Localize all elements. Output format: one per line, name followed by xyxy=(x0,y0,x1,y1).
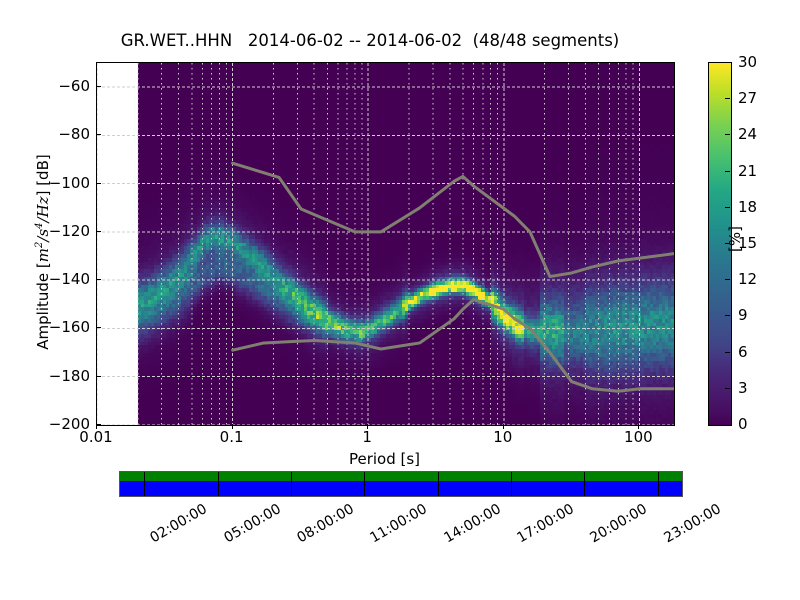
y-axis-label-prefix: Amplitude [ xyxy=(34,262,52,350)
time-tick-label: 20:00:00 xyxy=(588,501,650,546)
colorbar-tick-label: 0 xyxy=(731,415,748,433)
availability-tick xyxy=(364,472,365,496)
data-availability-bar xyxy=(119,471,683,497)
noise-model-curve-nlnm xyxy=(233,300,674,392)
availability-tick xyxy=(511,472,512,496)
x-tick-label: 0.01 xyxy=(79,428,112,446)
colorbar-tick-label: 12 xyxy=(731,270,757,288)
availability-tick xyxy=(438,472,439,496)
axes-inner xyxy=(97,63,674,425)
colorbar-tick-label: 18 xyxy=(731,198,757,216)
y-axis-label-suffix: ] [dB] xyxy=(34,154,52,196)
axes-overlay xyxy=(97,63,674,425)
y-tick-mark xyxy=(96,134,101,135)
x-tick-label: 1 xyxy=(362,428,372,446)
x-tick-label: 10 xyxy=(493,428,512,446)
colorbar-tick-mark xyxy=(725,207,730,208)
colorbar-tick-label: 24 xyxy=(731,125,757,143)
time-axis-ticks: 02:00:0005:00:0008:00:0011:00:0014:00:00… xyxy=(119,499,683,559)
availability-band-blue xyxy=(120,481,682,496)
colorbar-tick-label: 27 xyxy=(731,89,757,107)
x-tick-mark xyxy=(232,424,233,429)
colorbar-tick-label: 6 xyxy=(731,343,748,361)
colorbar-tick-mark xyxy=(725,134,730,135)
y-tick-mark xyxy=(96,183,101,184)
availability-tick xyxy=(291,472,292,496)
time-tick-label: 23:00:00 xyxy=(661,501,723,546)
x-tick-mark xyxy=(96,424,97,429)
availability-tick xyxy=(218,472,219,496)
noise-model-curve-nhnm xyxy=(233,163,674,276)
x-tick-label: 0.1 xyxy=(220,428,244,446)
availability-tick xyxy=(658,472,659,496)
x-tick-mark xyxy=(638,424,639,429)
x-axis-label: Period [s] xyxy=(96,450,673,468)
x-tick-mark xyxy=(367,424,368,429)
y-tick-mark xyxy=(96,279,101,280)
time-tick-label: 05:00:00 xyxy=(221,501,283,546)
time-tick-label: 02:00:00 xyxy=(148,501,210,546)
y-axis-label: Amplitude [m2/s4/Hz] [dB] xyxy=(34,72,52,432)
ppsd-axes xyxy=(96,62,675,426)
colorbar-label: [%] xyxy=(726,226,744,252)
colorbar-tick-label: 21 xyxy=(731,162,757,180)
availability-band-green xyxy=(120,472,682,481)
colorbar-tick-mark xyxy=(725,171,730,172)
y-axis-label-math: m2/s4/Hz xyxy=(34,196,52,262)
colorbar-tick-mark xyxy=(725,279,730,280)
figure-title: GR.WET..HHN 2014-06-02 -- 2014-06-02 (48… xyxy=(0,31,740,50)
y-tick-mark xyxy=(96,231,101,232)
time-tick-label: 14:00:00 xyxy=(441,501,503,546)
availability-tick xyxy=(144,472,145,496)
colorbar-tick-label: 9 xyxy=(731,306,748,324)
x-tick-mark xyxy=(503,424,504,429)
colorbar-tick-mark xyxy=(725,315,730,316)
colorbar-tick-mark xyxy=(725,388,730,389)
y-tick-mark xyxy=(96,327,101,328)
colorbar-tick-label: 30 xyxy=(731,53,757,71)
colorbar-tick-label: 3 xyxy=(731,379,748,397)
time-tick-label: 11:00:00 xyxy=(368,501,430,546)
availability-tick xyxy=(584,472,585,496)
ppsd-figure: GR.WET..HHN 2014-06-02 -- 2014-06-02 (48… xyxy=(0,0,800,600)
x-tick-label: 100 xyxy=(624,428,653,446)
y-tick-mark xyxy=(96,86,101,87)
colorbar-tick-mark xyxy=(725,98,730,99)
time-tick-label: 08:00:00 xyxy=(294,501,356,546)
time-tick-label: 17:00:00 xyxy=(514,501,576,546)
colorbar-tick-mark xyxy=(725,352,730,353)
y-tick-mark xyxy=(96,376,101,377)
